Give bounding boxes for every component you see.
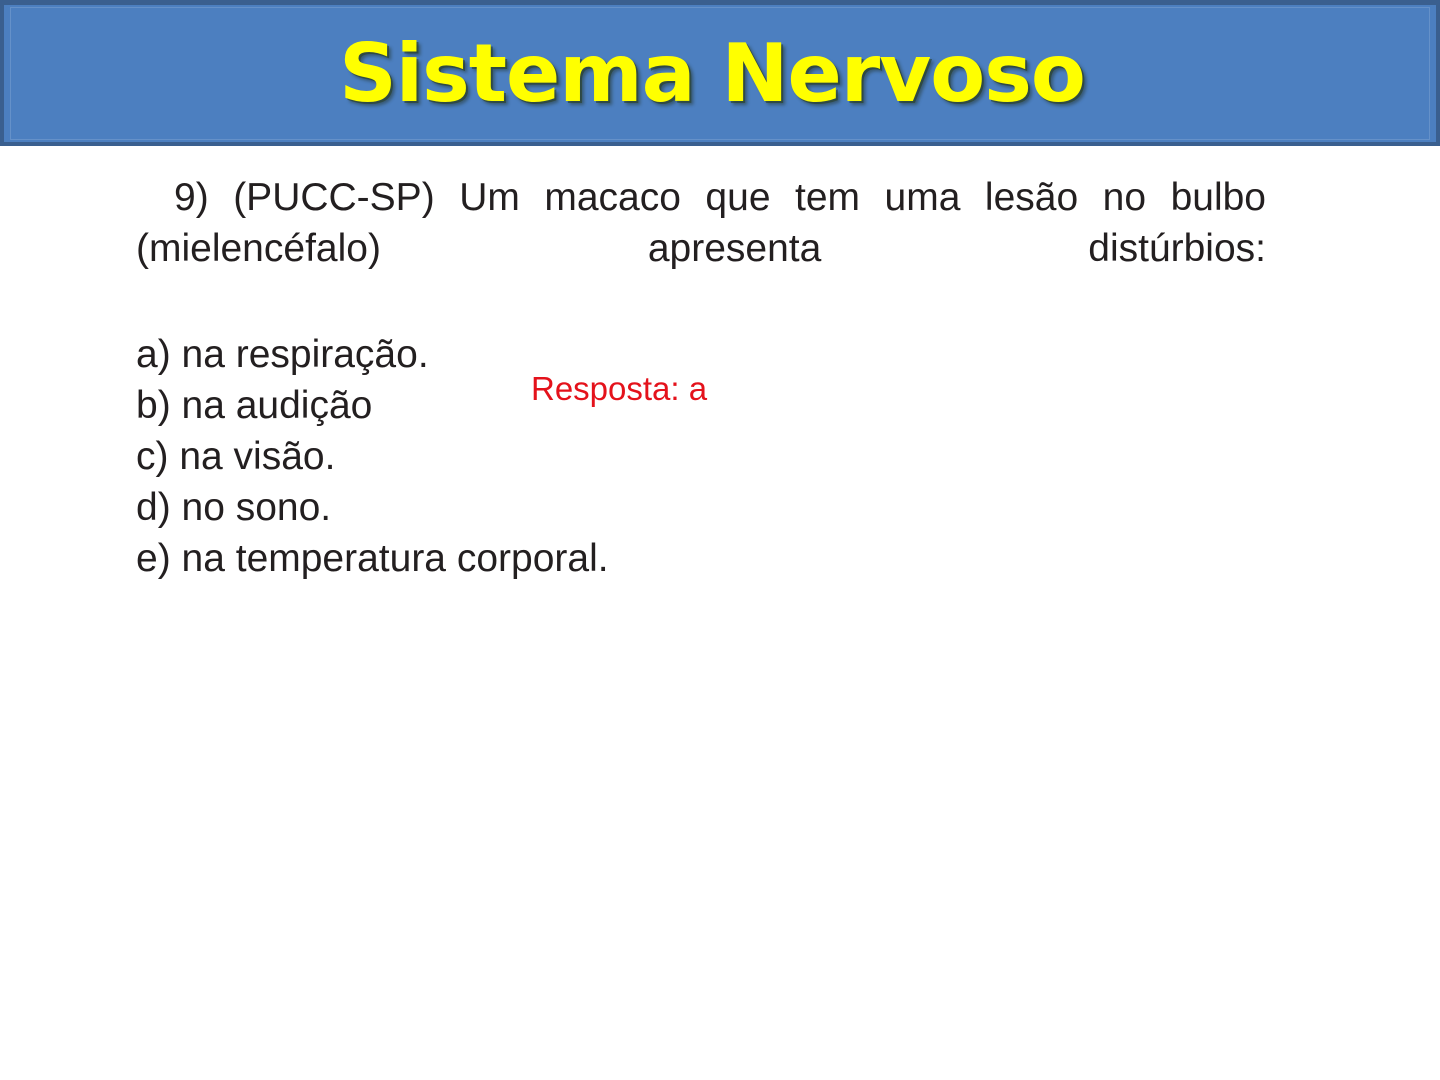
option-list: a) na respiração. b) na audição c) na vi… — [136, 329, 1266, 584]
page-title: Sistema Nervoso — [339, 34, 1085, 114]
question-statement: 9) (PUCC-SP) Um macaco que tem uma lesão… — [136, 172, 1266, 325]
slide-root: Sistema Nervoso 9) (PUCC-SP) Um macaco q… — [0, 0, 1440, 1080]
option-d: d) no sono. — [136, 482, 1266, 533]
option-e: e) na temperatura corporal. — [136, 533, 1266, 584]
option-c: c) na visão. — [136, 431, 1266, 482]
slide-title-banner: Sistema Nervoso — [0, 0, 1440, 146]
answer-label: Resposta: a — [531, 371, 707, 407]
